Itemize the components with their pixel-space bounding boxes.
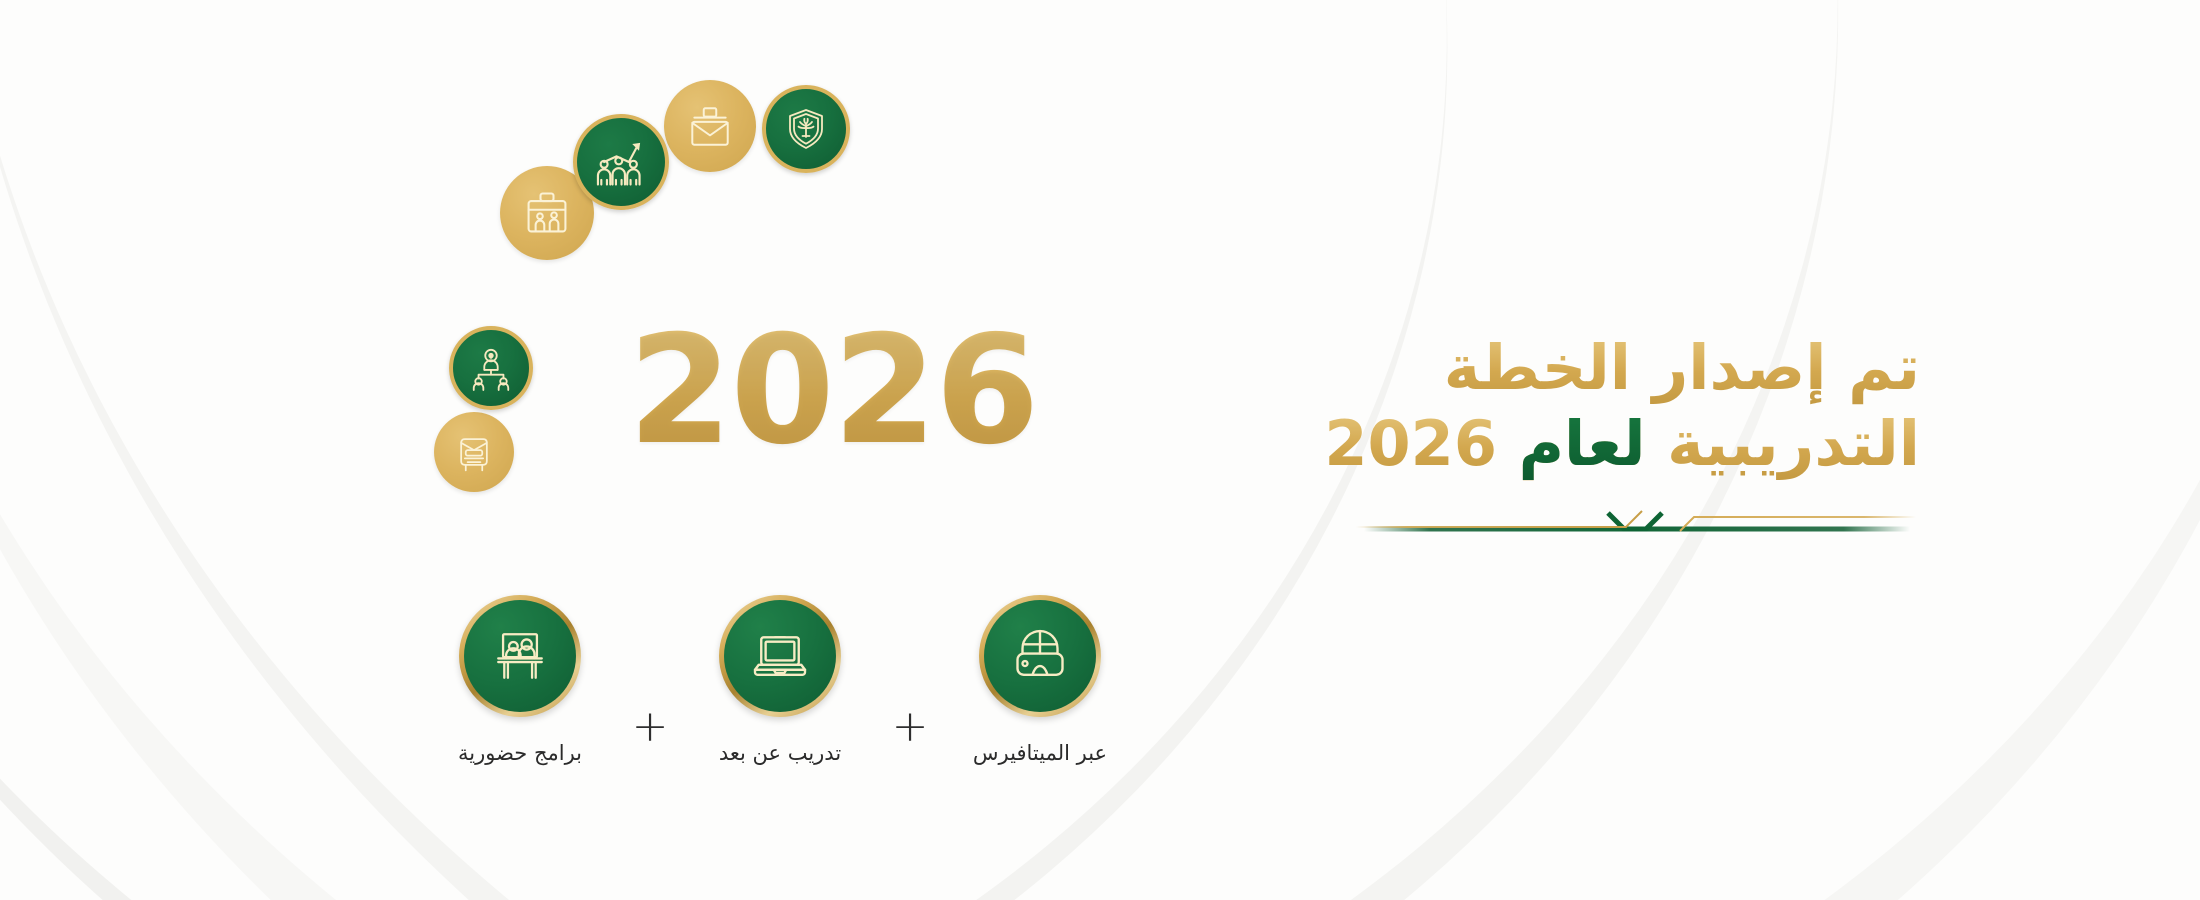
shield-palm-icon bbox=[782, 105, 830, 153]
modality-label-inperson: برامج حضورية bbox=[458, 741, 582, 765]
vr-goggles-icon bbox=[1010, 626, 1070, 686]
headline-line2-year: 2026 bbox=[1324, 407, 1497, 480]
headline-line-2: التدريبية لعام 2026 bbox=[1300, 406, 1920, 482]
headline-line2-part1: التدريبية bbox=[1667, 407, 1920, 480]
arc-badge-team-leader bbox=[449, 326, 533, 410]
modality-metaverse[interactable]: عبر الميتافيرس bbox=[960, 595, 1120, 765]
modality-badge-remote[interactable] bbox=[719, 595, 841, 717]
separator-plus-1: + bbox=[892, 705, 929, 749]
arc-badge-shield-palm bbox=[762, 85, 850, 173]
decorative-divider bbox=[1350, 499, 1920, 545]
modality-remote[interactable]: تدريب عن بعد bbox=[700, 595, 860, 765]
training-modality-row: عبر الميتافيرس + تدريب عن بعد + bbox=[440, 595, 1120, 825]
separator-plus-2: + bbox=[632, 705, 669, 749]
banner-canvas: 2026 عبر الميتافيرس + bbox=[0, 0, 2200, 900]
team-leader-icon bbox=[468, 345, 514, 391]
arc-badge-people-growth bbox=[573, 114, 669, 210]
modality-badge-metaverse[interactable] bbox=[979, 595, 1101, 717]
modality-badge-inperson[interactable] bbox=[459, 595, 581, 717]
headline-line2-accent: لعام bbox=[1519, 407, 1646, 480]
arc-badge-cluster bbox=[0, 0, 700, 560]
modality-inperson[interactable]: برامج حضورية bbox=[440, 595, 600, 765]
modality-label-remote: تدريب عن بعد bbox=[719, 741, 841, 765]
headline-line-1: تم إصدار الخطة bbox=[1300, 330, 1920, 406]
people-growth-chart-icon bbox=[594, 135, 648, 189]
laptop-icon bbox=[750, 626, 810, 686]
classroom-icon bbox=[491, 627, 549, 685]
modality-label-metaverse: عبر الميتافيرس bbox=[973, 741, 1107, 765]
headline-block: تم إصدار الخطة التدريبية لعام 2026 bbox=[1300, 330, 1920, 549]
